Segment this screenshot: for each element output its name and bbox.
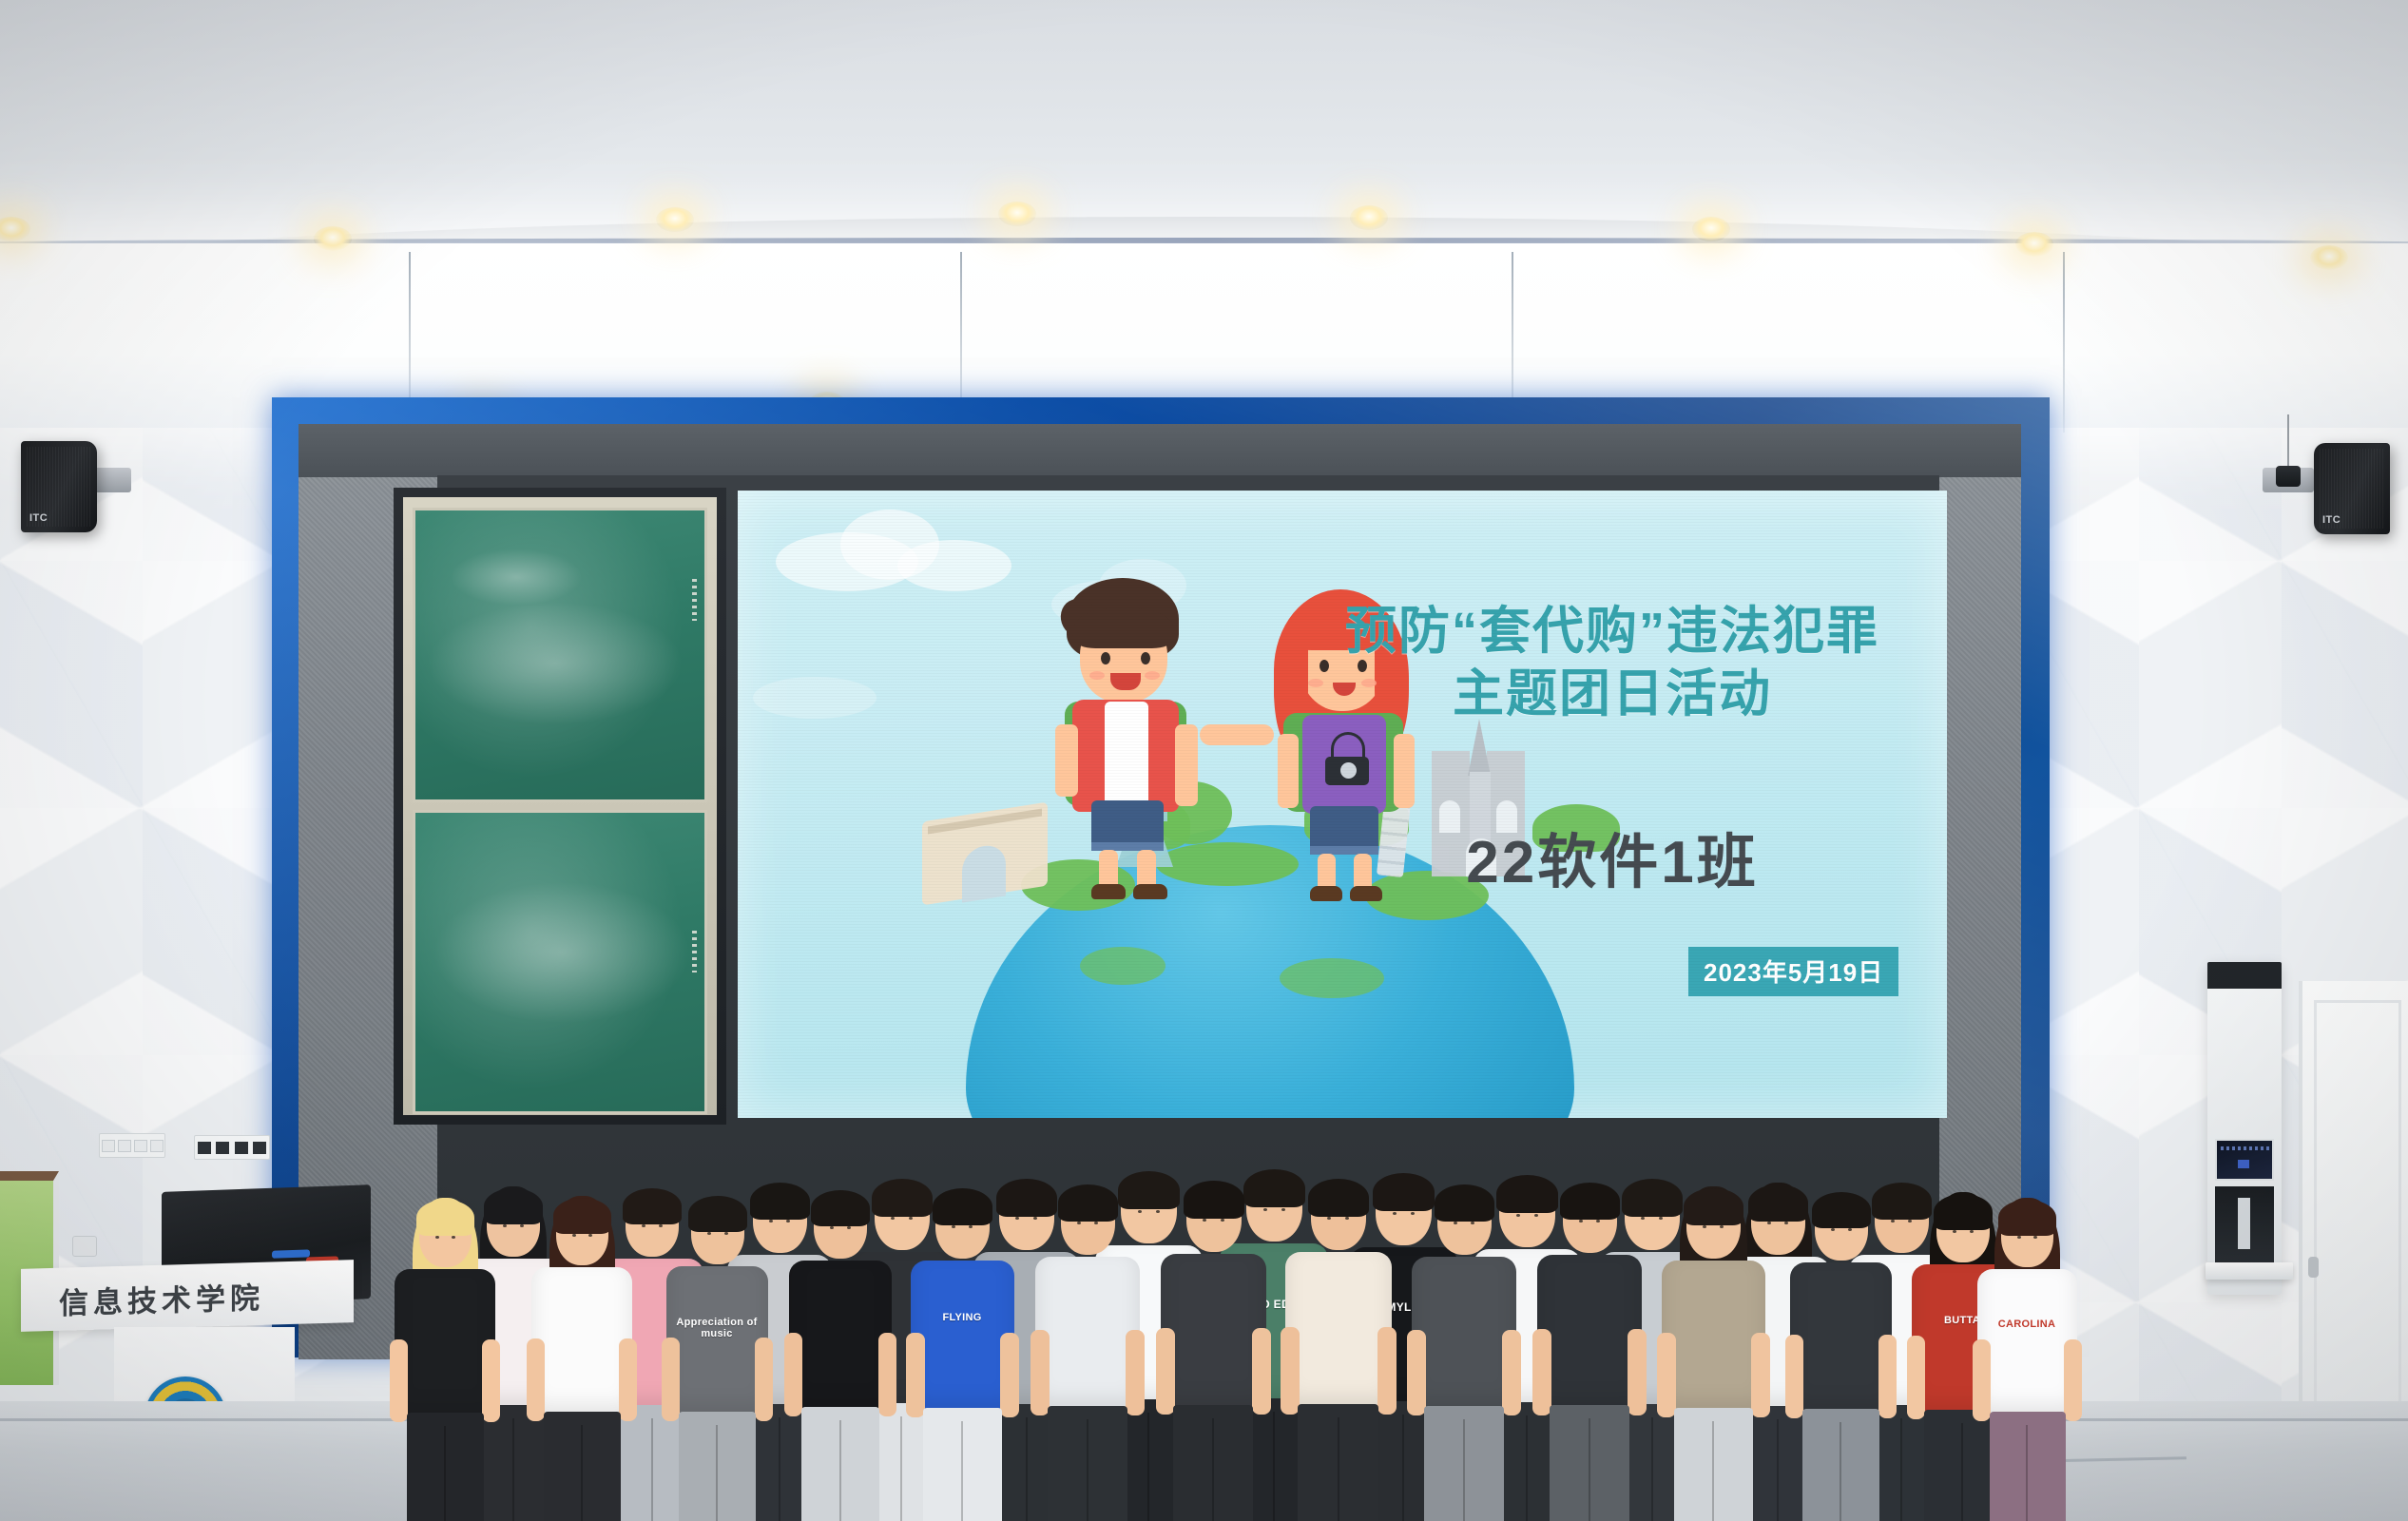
eye [1579, 1220, 1583, 1223]
arm [755, 1338, 773, 1421]
eye [1703, 1225, 1706, 1228]
eye [1471, 1222, 1474, 1224]
eye [1891, 1220, 1895, 1223]
wall-speaker-right: ITC [2314, 443, 2390, 534]
arm [482, 1339, 500, 1422]
cloud-shape [753, 677, 877, 719]
eye [1767, 1222, 1771, 1224]
classroom-photo-scene: 预防“套代购”违法犯罪 主题团日活动 22软件1班 2023年5月19日 ITC… [0, 0, 2408, 1521]
downlight-icon [1350, 205, 1388, 230]
kiosk-top-cap [2207, 962, 2282, 989]
eye [847, 1226, 851, 1229]
chalk-smudge [427, 602, 684, 725]
arm [527, 1338, 545, 1421]
hair [933, 1188, 992, 1225]
torso [1161, 1254, 1266, 1409]
leg-gap [716, 1425, 718, 1521]
hair [1684, 1188, 1743, 1225]
hair [688, 1196, 747, 1232]
land-mass [1080, 947, 1165, 985]
leg-gap [512, 1418, 514, 1521]
leg-gap [961, 1421, 963, 1521]
student-figure: CAROLINA [1977, 1196, 2077, 1521]
eye [1393, 1212, 1397, 1215]
leg-gap [779, 1417, 780, 1521]
arm [1156, 1328, 1175, 1415]
arm [1532, 1329, 1551, 1415]
arm [1785, 1335, 1803, 1418]
eye [1596, 1220, 1600, 1223]
screen-date-badge: 2023年5月19日 [1688, 947, 1898, 996]
arm [1502, 1330, 1521, 1415]
leg-gap [1651, 1417, 1653, 1521]
speaker-brand-label: ITC [2322, 514, 2341, 526]
student-crowd: Appreciation of musicFLYINGLIMITED EDITI… [0, 998, 2408, 1521]
hair [1184, 1181, 1244, 1219]
eye [2017, 1236, 2021, 1239]
torso [531, 1267, 632, 1415]
torso [1285, 1252, 1392, 1408]
hair [811, 1190, 870, 1226]
eye [659, 1224, 663, 1227]
shirt-graphic-text: CAROLINA [1977, 1319, 2077, 1330]
downlight-icon [2310, 245, 2348, 270]
arm [878, 1333, 896, 1416]
land-mass [1280, 958, 1384, 998]
eye [1015, 1217, 1019, 1220]
eye [1784, 1222, 1788, 1224]
eye [952, 1225, 955, 1228]
leg-gap [444, 1426, 446, 1521]
eye [1454, 1222, 1457, 1224]
arm [1281, 1327, 1300, 1415]
leg-gap [1961, 1423, 1963, 1521]
boy-character [1046, 578, 1207, 880]
hair [1308, 1179, 1369, 1217]
student-figure [1161, 1177, 1266, 1521]
arm [1657, 1333, 1676, 1417]
student-figure [1412, 1181, 1516, 1521]
hair [1560, 1183, 1620, 1220]
eye [1848, 1228, 1852, 1231]
eye [1203, 1219, 1206, 1222]
eye [1327, 1217, 1331, 1220]
torso [1035, 1257, 1140, 1410]
arm [1000, 1333, 1019, 1417]
shirt-graphic-text: FLYING [911, 1312, 1014, 1323]
leg-gap [1087, 1419, 1088, 1521]
arc-de-triomphe-icon [922, 812, 1048, 899]
leg-gap [1840, 1422, 1841, 1521]
torso [1662, 1261, 1765, 1412]
arm [1377, 1327, 1397, 1415]
leg-gap [900, 1416, 902, 1521]
leg-gap [839, 1420, 841, 1521]
cloud-shape [897, 540, 1011, 591]
hair [1998, 1200, 2056, 1236]
panel-seam [2063, 252, 2065, 433]
eye [724, 1232, 728, 1235]
hair [416, 1200, 474, 1236]
student-figure [1285, 1175, 1392, 1521]
downlight-icon [2015, 232, 2053, 257]
screen-class-name: 22软件1班 [1308, 814, 1917, 899]
arm [619, 1338, 637, 1421]
wall-speaker-left: ITC [21, 441, 97, 532]
arm [1252, 1328, 1271, 1415]
student-figure [1035, 1181, 1140, 1521]
hair [1435, 1184, 1494, 1222]
joined-hands [1200, 724, 1274, 745]
student-figure [1662, 1184, 1765, 1521]
downlight-icon [998, 202, 1036, 226]
student-figure [1537, 1179, 1642, 1521]
leg-gap [1526, 1415, 1528, 1521]
eye [1156, 1210, 1160, 1213]
eye [452, 1236, 455, 1239]
eye [1345, 1217, 1349, 1220]
leg-gap [1338, 1417, 1339, 1521]
arm [1126, 1330, 1145, 1415]
hair [1812, 1192, 1871, 1228]
eye [769, 1220, 773, 1223]
student-figure [789, 1186, 892, 1521]
student-figure: FLYING [911, 1184, 1014, 1521]
leg-gap [1777, 1419, 1779, 1521]
eye [1516, 1214, 1520, 1217]
arm [1751, 1333, 1770, 1417]
chalk-smudge [450, 549, 583, 606]
eye [969, 1225, 973, 1228]
hair [1058, 1184, 1118, 1222]
eye [1077, 1222, 1081, 1224]
eye [830, 1226, 834, 1229]
torso [1790, 1262, 1892, 1413]
arm [784, 1333, 802, 1416]
eye [642, 1224, 645, 1227]
leg-gap [581, 1425, 583, 1521]
legs [1990, 1412, 2066, 1521]
torso [666, 1266, 768, 1415]
student-figure [1790, 1188, 1892, 1521]
downlight-icon [314, 226, 352, 251]
blackboard-scale-marks [692, 931, 697, 972]
torso [1977, 1269, 2077, 1415]
arm [1407, 1330, 1426, 1415]
eye [1221, 1219, 1224, 1222]
eye [1831, 1228, 1835, 1231]
leg-gap [1463, 1419, 1465, 1521]
eye [588, 1234, 592, 1237]
leg-gap [1900, 1418, 1902, 1521]
torso [1537, 1255, 1642, 1409]
student-figure [531, 1194, 632, 1521]
arm [1878, 1335, 1897, 1418]
arm [390, 1339, 408, 1422]
torso [789, 1261, 892, 1411]
student-figure [395, 1196, 495, 1521]
eye [1953, 1230, 1956, 1233]
screen-title: 预防“套代购”违法犯罪 主题团日活动 [1308, 601, 1917, 726]
torso [1412, 1257, 1516, 1410]
leg-gap [1147, 1413, 1149, 1521]
leg-gap [1026, 1417, 1028, 1521]
screen-title-line1: 预防“套代购”违法犯罪 [1308, 601, 1917, 664]
eye [503, 1224, 507, 1227]
student-figure: Appreciation of music [666, 1192, 768, 1521]
hair [553, 1198, 611, 1234]
leg-gap [651, 1418, 653, 1521]
torso [911, 1261, 1014, 1412]
leg-gap [1589, 1418, 1590, 1521]
downlight-icon [1692, 217, 1730, 241]
stage-top-band [299, 424, 2021, 477]
arm [1031, 1330, 1050, 1415]
eye [1720, 1225, 1724, 1228]
eye [520, 1224, 524, 1227]
leg-gap [1402, 1415, 1404, 1521]
screen-title-line2: 主题团日活动 [1308, 664, 1917, 726]
leg-gap [2026, 1425, 2028, 1521]
speaker-brand-label: ITC [29, 512, 48, 524]
arm [1973, 1339, 1991, 1421]
eye [1094, 1222, 1098, 1224]
eye [2033, 1236, 2037, 1239]
eye [1970, 1230, 1974, 1233]
downlight-icon [656, 207, 694, 232]
arm [2064, 1339, 2082, 1421]
leg-gap [1712, 1421, 1714, 1521]
arm [662, 1338, 680, 1421]
arm [906, 1333, 925, 1417]
arm [1628, 1329, 1647, 1415]
eye [435, 1236, 439, 1239]
torso [395, 1269, 495, 1416]
eye [572, 1234, 576, 1237]
arm [1907, 1336, 1925, 1419]
blackboard-panel-upper[interactable] [413, 508, 707, 802]
leg-gap [1212, 1418, 1214, 1521]
eye [707, 1232, 711, 1235]
spotlight-cable [2287, 414, 2289, 468]
shirt-graphic-text: Appreciation of music [666, 1317, 768, 1339]
blackboard-scale-marks [692, 579, 697, 621]
leg-gap [1273, 1412, 1275, 1521]
spotlight-icon [2276, 466, 2301, 487]
